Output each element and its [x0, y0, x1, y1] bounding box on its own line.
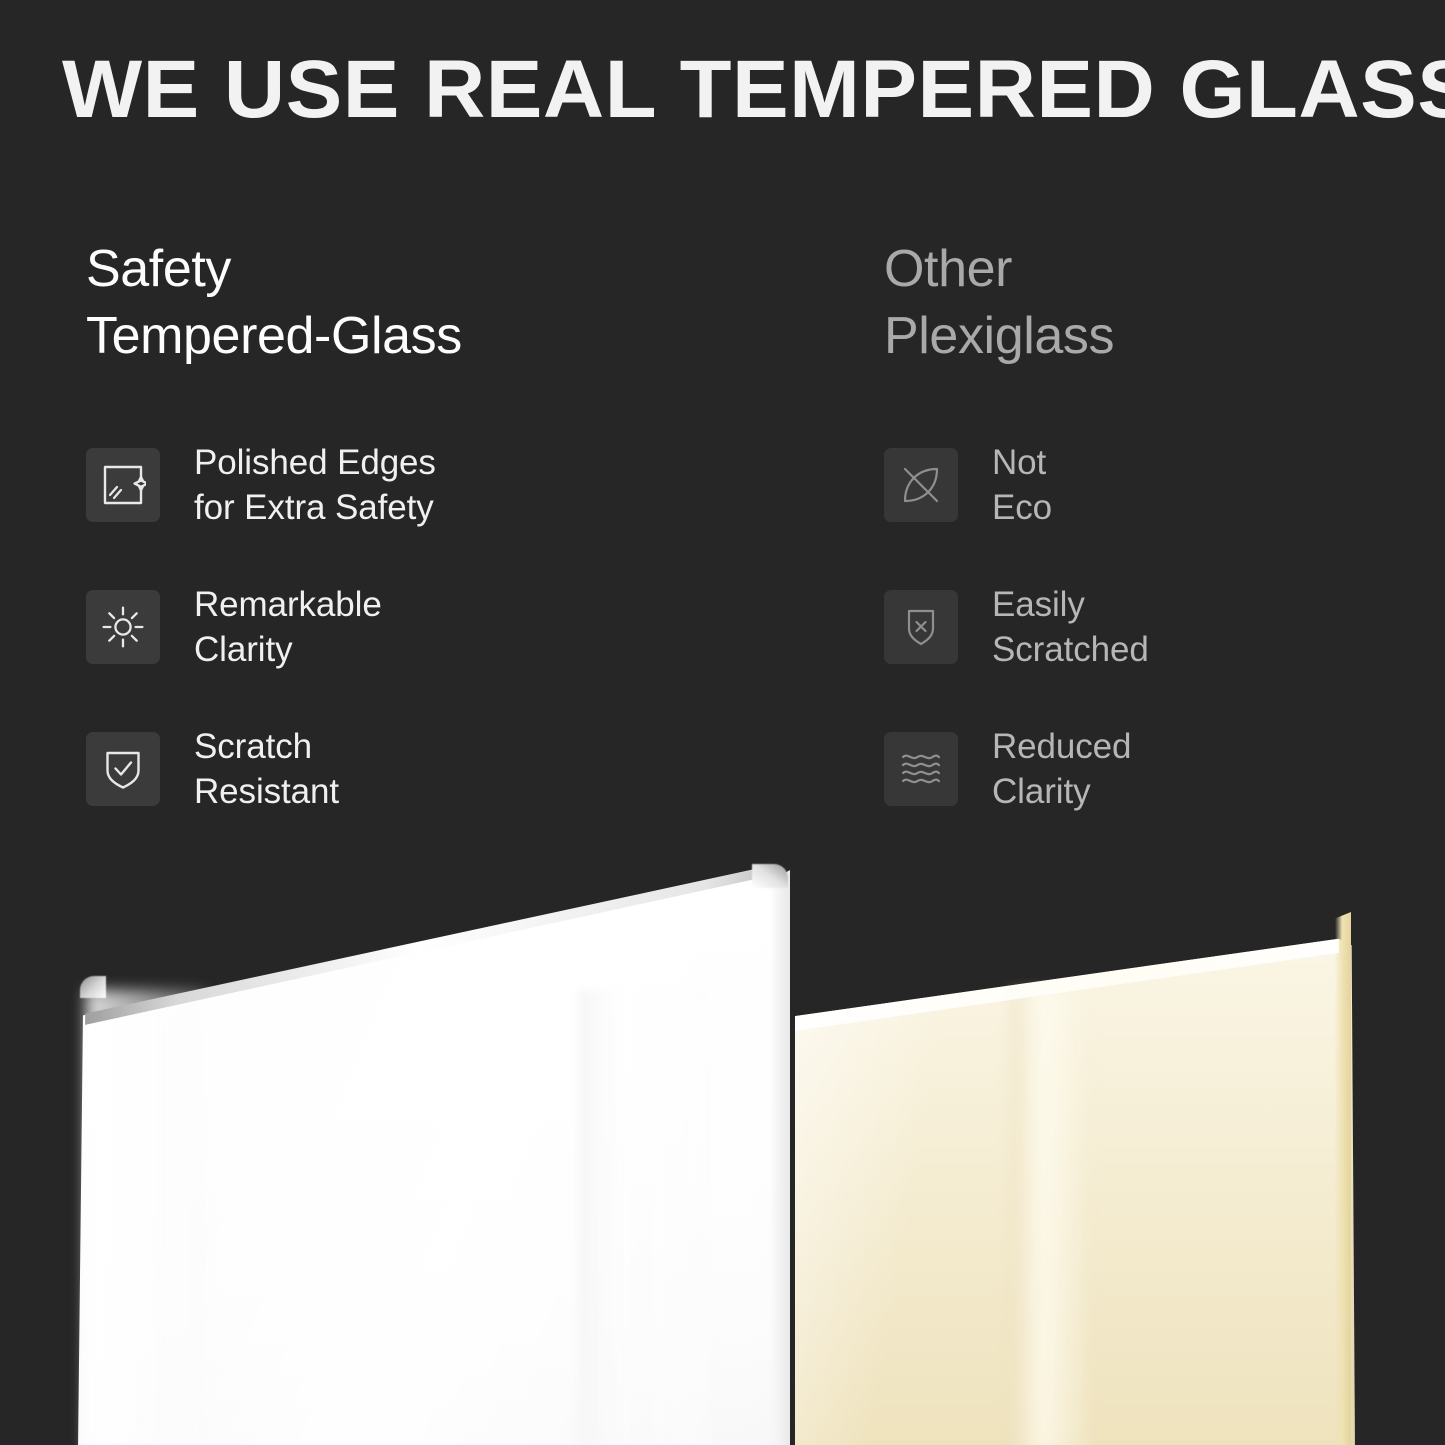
shield-check-icon: [86, 732, 160, 806]
feature-label-scratch-resistant: Scratch Resistant: [194, 724, 339, 815]
tempered-glass-panel-edge: [770, 870, 790, 1445]
column-heading-plexiglass: Other Plexiglass: [884, 236, 1404, 369]
feature-label-reduced-clarity: Reduced Clarity: [992, 724, 1131, 815]
tempered-glass-panel-reflection-right: [578, 990, 710, 1445]
shield-x-icon: [884, 590, 958, 664]
feature-label-remarkable-clarity: Remarkable Clarity: [194, 582, 382, 673]
feature-list-plexiglass: Not Eco Easily Scratched: [884, 436, 1404, 818]
plexiglass-panel-edge: [1335, 912, 1351, 1445]
feature-item-remarkable-clarity: Remarkable Clarity: [86, 578, 786, 676]
feature-item-reduced-clarity: Reduced Clarity: [884, 720, 1404, 818]
glass-panels-photo: [0, 840, 1445, 1445]
page-title: WE USE REAL TEMPERED GLASS: [62, 36, 1439, 144]
sun-brightness-icon: [86, 590, 160, 664]
tempered-glass-corner-top-right: [752, 864, 788, 888]
polished-edge-sparkle-icon: [86, 448, 160, 522]
tempered-glass-panel-reflection-left: [86, 990, 206, 1445]
leaf-slash-icon: [884, 448, 958, 522]
feature-label-easily-scratched: Easily Scratched: [992, 582, 1149, 673]
feature-item-polished-edges: Polished Edges for Extra Safety: [86, 436, 786, 534]
plexiglass-panel-reflection: [1010, 990, 1088, 1445]
wavy-lines-icon: [884, 732, 958, 806]
feature-label-not-eco: Not Eco: [992, 440, 1052, 531]
feature-item-scratch-resistant: Scratch Resistant: [86, 720, 786, 818]
feature-list-tempered-glass: Polished Edges for Extra Safety: [86, 436, 786, 818]
comparison-column-tempered-glass: Safety Tempered-Glass Polished Edges for…: [86, 236, 786, 369]
feature-item-easily-scratched: Easily Scratched: [884, 578, 1404, 676]
infographic-canvas: WE USE REAL TEMPERED GLASS Safety Temper…: [0, 0, 1445, 1445]
column-heading-tempered-glass: Safety Tempered-Glass: [86, 236, 786, 369]
tempered-glass-corner-top-left: [80, 976, 106, 998]
feature-label-polished-edges: Polished Edges for Extra Safety: [194, 440, 436, 531]
feature-item-not-eco: Not Eco: [884, 436, 1404, 534]
comparison-column-plexiglass: Other Plexiglass Not Eco: [884, 236, 1404, 369]
